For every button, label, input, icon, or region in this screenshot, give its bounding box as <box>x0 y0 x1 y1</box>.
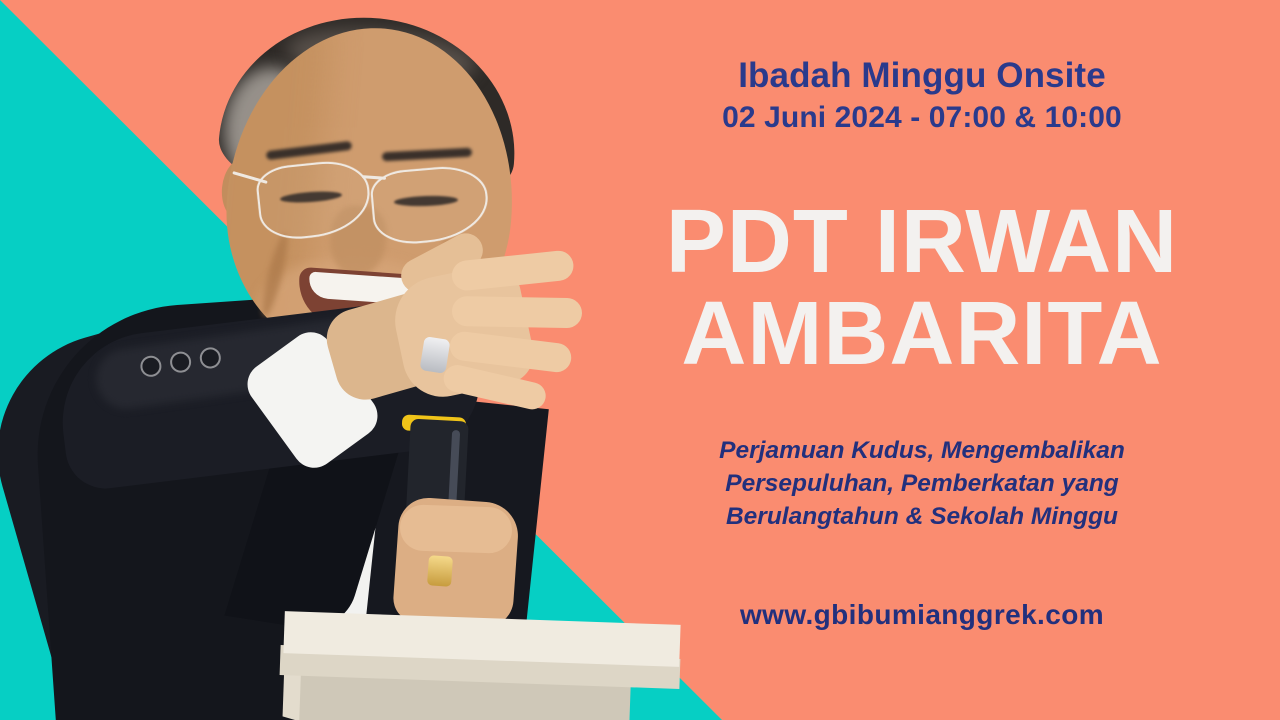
silver-ring <box>420 336 451 374</box>
speaker-photo <box>0 0 700 720</box>
gold-ring <box>427 555 453 587</box>
church-service-announcement-poster: Ibadah Minggu Onsite 02 Juni 2024 - 07:0… <box>0 0 1280 720</box>
hand-knuckles <box>399 504 513 554</box>
finger-middle <box>452 296 583 328</box>
